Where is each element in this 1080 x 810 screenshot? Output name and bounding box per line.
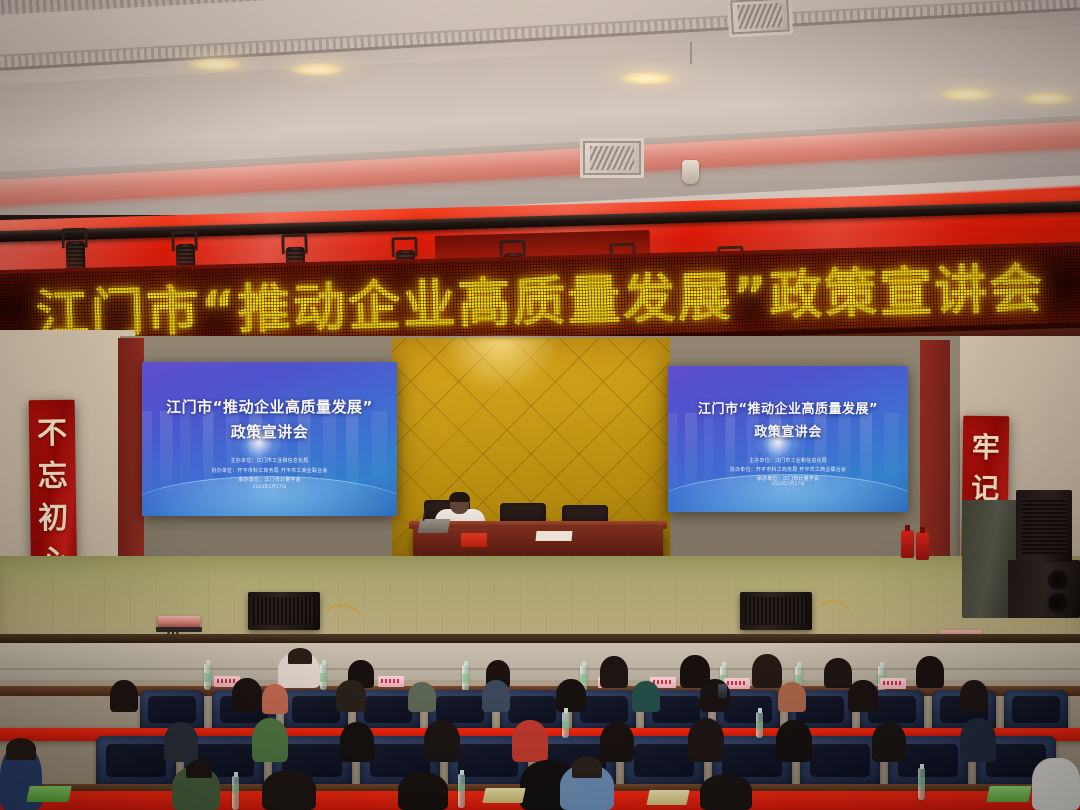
banner-char: 初 (38, 504, 68, 534)
audience-person (776, 720, 812, 762)
audience-person (336, 680, 366, 712)
notebook (482, 788, 525, 803)
banner-char: 记 (971, 475, 999, 503)
slide-date: 2023年5月17日 (668, 481, 908, 487)
audience-person (340, 722, 374, 762)
ceiling (0, 0, 1080, 215)
audience-person (752, 654, 782, 688)
downlight (290, 63, 344, 76)
audience-person (6, 738, 36, 760)
name-card (378, 676, 404, 687)
projection-screen-right: 江门市“推动企业高质量发展” 政策宣讲会 主办单位：江门市工业和信息化局 协办单… (668, 366, 908, 512)
audience-person (186, 760, 212, 778)
banner-char: 牢 (972, 434, 1000, 462)
smartphone[interactable] (718, 684, 727, 698)
slide-date: 2023年5月17日 (142, 484, 397, 490)
conference-hall-photo: 江门市“推动企业高质量发展”政策宣讲会 江门市“推动企业高质量发展” 政策宣讲会… (0, 0, 1080, 810)
audience-seat[interactable] (1004, 690, 1068, 730)
projection-screen-left: 江门市“推动企业高质量发展” 政策宣讲会 主办单位：江门市工业和信息化局 协办单… (142, 362, 397, 516)
audience-person (600, 656, 628, 688)
speaker-person-hair (449, 492, 470, 502)
audience-person (408, 682, 436, 712)
audience-person (110, 680, 138, 712)
stage-monitor-speaker (248, 592, 320, 630)
audience-seat[interactable] (800, 736, 880, 786)
audience-person (916, 656, 944, 688)
audience-person (778, 682, 806, 712)
slide-organizer-line: 主办单位：江门市工业和信息化局 (668, 457, 908, 466)
pa-subwoofer (1008, 560, 1080, 618)
notebook (26, 786, 71, 802)
audience-person (960, 718, 996, 762)
audience-person (632, 681, 660, 712)
slide-title-line2: 政策宣讲会 (142, 421, 397, 442)
banner-char: 不 (37, 419, 67, 449)
downlight (940, 88, 994, 101)
hvac-vent (580, 138, 644, 178)
fire-extinguisher (901, 530, 914, 558)
audience-person (556, 679, 586, 712)
water-bottle (462, 665, 469, 691)
audience-person (688, 718, 724, 762)
audience-person (482, 680, 510, 712)
water-bottle (562, 712, 569, 738)
hvac-vent (727, 0, 793, 38)
audience-person (872, 722, 906, 762)
backdrop-highlight (440, 338, 560, 394)
water-bottle (320, 664, 327, 690)
stage-side-panel-right (920, 340, 950, 556)
laptop (418, 519, 451, 533)
slide-coorganizer-line: 协办单位：开平市科工商务局 开平市工商业联合会 (668, 466, 908, 475)
slide-title-line1: 江门市“推动企业高质量发展” (142, 396, 397, 417)
audience-person (424, 720, 460, 762)
audience-person (824, 658, 852, 688)
downlight (620, 72, 674, 85)
ceiling-speaker (682, 160, 699, 184)
red-box (461, 533, 487, 547)
audience-person (700, 774, 752, 810)
water-bottle (756, 712, 763, 738)
banner-char: 忘 (37, 461, 67, 491)
audience-person (512, 720, 548, 762)
audience-person (262, 684, 288, 714)
water-bottle (204, 664, 211, 690)
name-card (880, 678, 906, 689)
audience-person (262, 770, 316, 810)
audience-person (398, 772, 448, 810)
slide-subtext: 主办单位：江门市工业和信息化局 协办单位：开平市科工商务局 开平市工商业联合会 … (668, 457, 908, 485)
audience-person (572, 756, 602, 778)
audience-person (164, 722, 198, 762)
slide-subtext: 主办单位：江门市工业和信息化局 协办单位：开平市科工商务局 开平市工商业联合会 … (142, 457, 397, 485)
paper-document (535, 531, 572, 541)
slide-coorganizer-line: 协办单位：开平市科工商务局 开平市工商业联合会 (142, 467, 397, 476)
projector-plate (156, 627, 202, 632)
slide-title-line2: 政策宣讲会 (668, 421, 908, 440)
water-bottle (458, 774, 465, 808)
audience-person (252, 718, 288, 762)
audience-person (232, 678, 262, 712)
downlight (188, 58, 242, 71)
downlight (1020, 92, 1074, 105)
pa-top-speaker (1016, 490, 1072, 562)
slide-title-line1: 江门市“推动企业高质量发展” (668, 398, 908, 417)
audience-person (848, 680, 878, 712)
water-bottle (918, 768, 925, 800)
stage-monitor-speaker (740, 592, 812, 630)
stage-side-panel-left (118, 338, 144, 558)
notebook (646, 790, 689, 805)
notebook (986, 786, 1031, 802)
audience-person (288, 648, 312, 664)
fire-extinguisher (916, 532, 929, 560)
ceiling-hanger (690, 42, 692, 64)
audience-person (1032, 758, 1080, 810)
audience-person (960, 680, 988, 712)
slide-organizer-line: 主办单位：江门市工业和信息化局 (142, 457, 397, 466)
audience-person (600, 722, 634, 762)
water-bottle (232, 776, 239, 810)
